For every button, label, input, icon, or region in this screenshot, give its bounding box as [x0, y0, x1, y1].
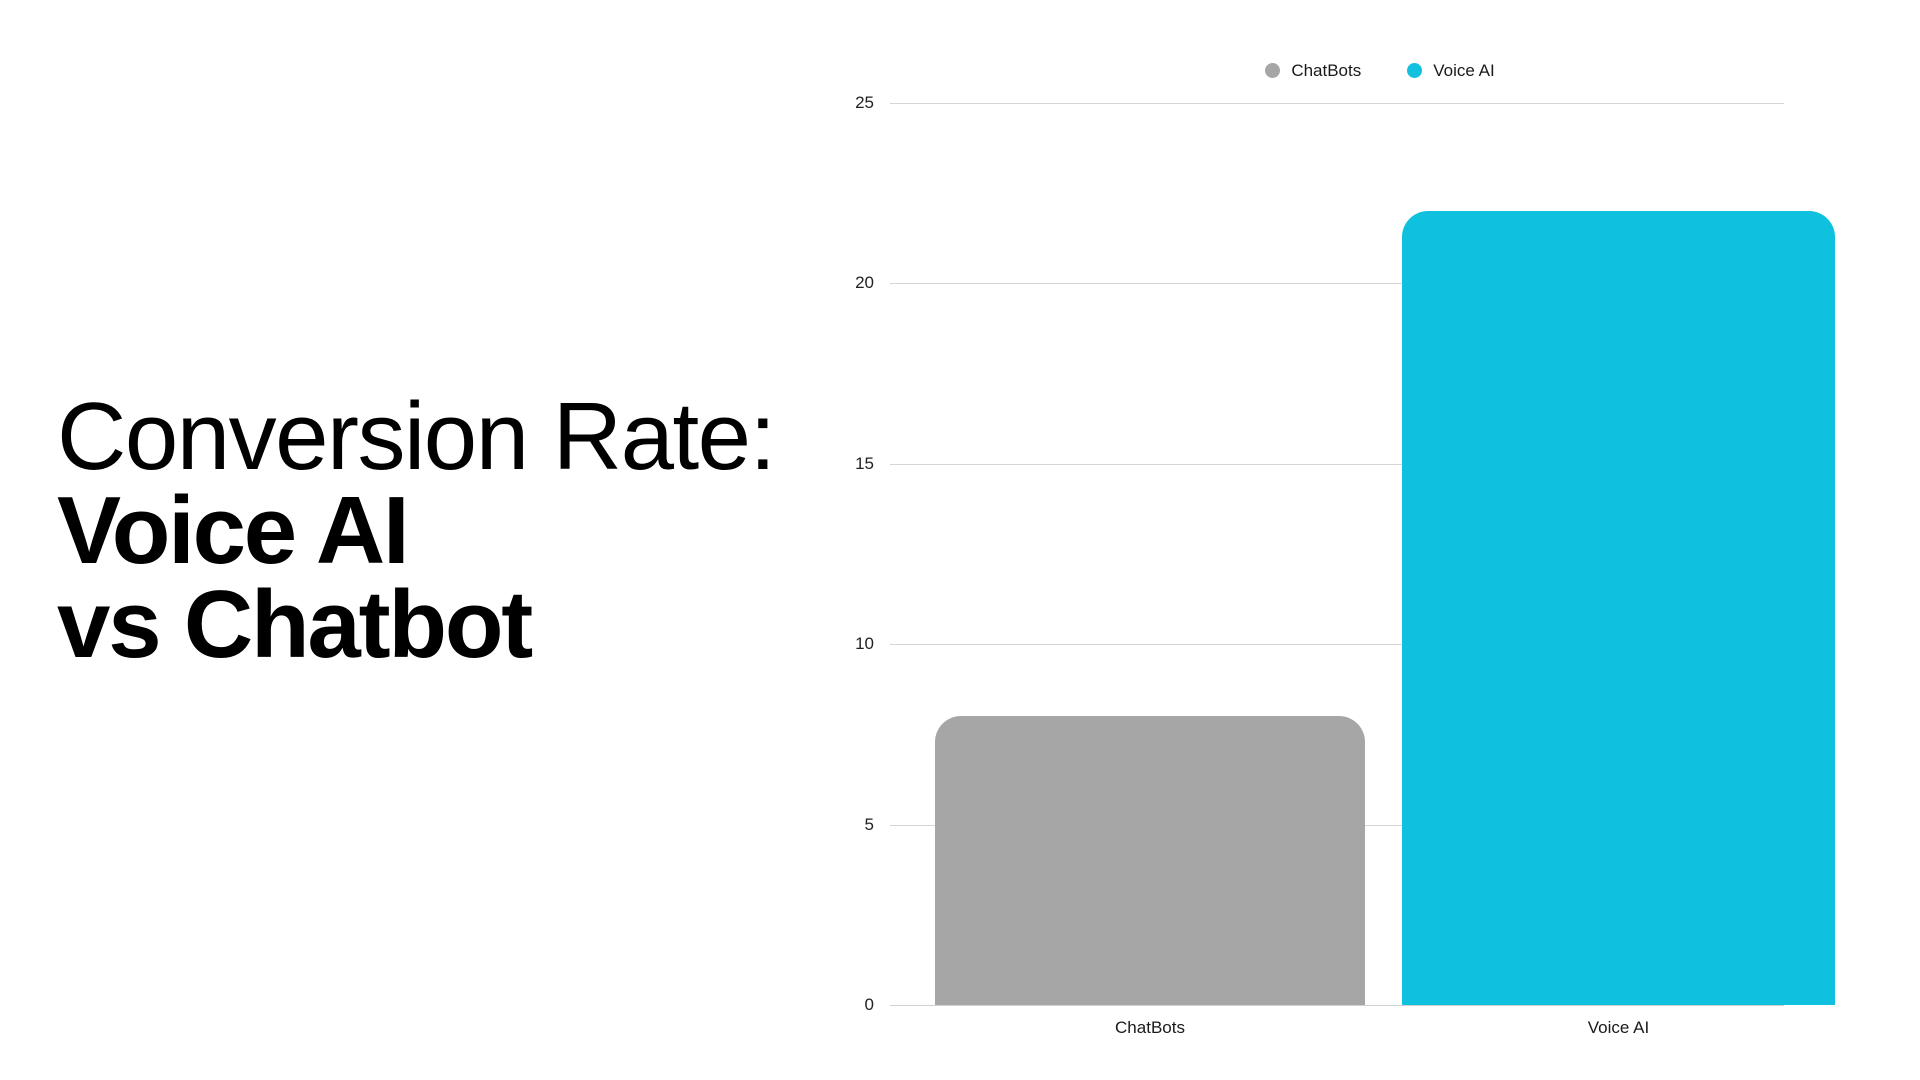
legend-dot-icon	[1407, 63, 1422, 78]
bar-series	[890, 103, 1784, 1005]
legend-item-chatbots[interactable]: ChatBots	[1265, 62, 1361, 79]
y-tick-label: 10	[814, 635, 874, 652]
y-tick-label: 25	[814, 94, 874, 111]
plot-area: 0510152025	[890, 103, 1784, 1005]
x-tick-label: Voice AI	[1402, 1018, 1835, 1038]
legend-label-chatbots: ChatBots	[1291, 62, 1361, 79]
gridline	[890, 1005, 1784, 1006]
legend-dot-icon	[1265, 63, 1280, 78]
y-tick-label: 5	[814, 816, 874, 833]
y-tick-label: 15	[814, 455, 874, 472]
bar-chart: ChatBots Voice AI 0510152025 ChatBotsVoi…	[840, 0, 1920, 1080]
chart-legend: ChatBots Voice AI	[840, 62, 1920, 79]
legend-label-voice-ai: Voice AI	[1433, 62, 1494, 79]
title-line-3: vs Chatbot	[57, 578, 847, 672]
page-title: Conversion Rate: Voice AI vs Chatbot	[57, 390, 847, 672]
x-axis: ChatBotsVoice AI	[890, 1018, 1784, 1048]
title-line-1: Conversion Rate:	[57, 390, 847, 484]
slide-root: Conversion Rate: Voice AI vs Chatbot Cha…	[0, 0, 1920, 1080]
x-tick-label: ChatBots	[935, 1018, 1365, 1038]
y-tick-label: 0	[814, 996, 874, 1013]
bar-chatbots[interactable]	[935, 716, 1365, 1005]
y-tick-label: 20	[814, 274, 874, 291]
title-line-2: Voice AI	[57, 484, 847, 578]
legend-item-voice-ai[interactable]: Voice AI	[1407, 62, 1494, 79]
bar-voice-ai[interactable]	[1402, 211, 1835, 1005]
